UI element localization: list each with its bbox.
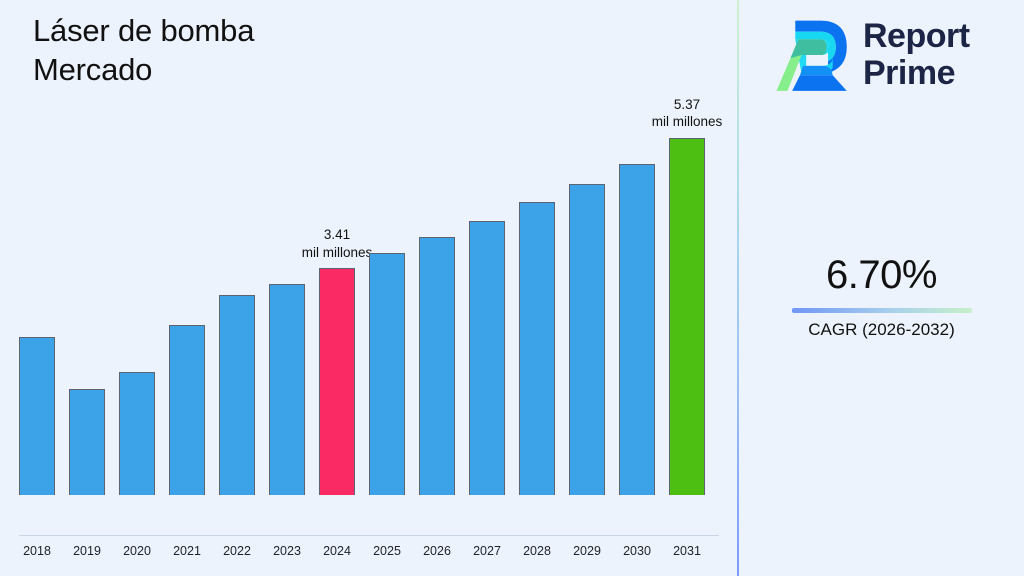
bar-2029[interactable]	[569, 184, 605, 495]
chart-panel: Láser de bomba Mercado 20182019202020212…	[0, 0, 737, 576]
x-axis-tick-2024: 2024	[323, 544, 351, 558]
bar-2022[interactable]	[219, 295, 255, 495]
bar-group-2029[interactable]	[569, 184, 605, 495]
brand-name: Report Prime	[863, 18, 970, 91]
bar-group-2026[interactable]	[419, 237, 455, 495]
bar-group-2020[interactable]	[119, 372, 155, 495]
bar-group-2023[interactable]	[269, 284, 305, 495]
cagr-value: 6.70%	[739, 252, 1024, 298]
bar-2019[interactable]	[69, 389, 105, 495]
x-axis-tick-2027: 2027	[473, 544, 501, 558]
bar-group-2018[interactable]	[19, 337, 55, 495]
bar-2030[interactable]	[619, 164, 655, 495]
x-axis-tick-2029: 2029	[573, 544, 601, 558]
x-axis-tick-2028: 2028	[523, 544, 551, 558]
bar-2023[interactable]	[269, 284, 305, 495]
bar-group-2019[interactable]	[69, 389, 105, 495]
x-axis-tick-2021: 2021	[173, 544, 201, 558]
bar-value-label-2031: 5.37 mil millones	[627, 96, 747, 131]
x-axis-line	[19, 535, 719, 536]
bar-group-2028[interactable]	[519, 202, 555, 495]
bar-group-2027[interactable]	[469, 221, 505, 495]
cagr-divider-rule	[792, 308, 972, 313]
bar-2020[interactable]	[119, 372, 155, 495]
bar-chart-plot: 2018201920202021202220233.41 mil millone…	[0, 0, 737, 536]
report-prime-r-monogram-icon	[775, 16, 853, 94]
bar-2018[interactable]	[19, 337, 55, 495]
bar-group-2021[interactable]	[169, 325, 205, 495]
infographic-page: Láser de bomba Mercado 20182019202020212…	[0, 0, 1024, 576]
x-axis-tick-2018: 2018	[23, 544, 51, 558]
x-axis-tick-2019: 2019	[73, 544, 101, 558]
bar-2021[interactable]	[169, 325, 205, 495]
bar-2031[interactable]	[669, 138, 705, 495]
bar-group-2024[interactable]: 3.41 mil millones	[319, 268, 355, 495]
x-axis-tick-2020: 2020	[123, 544, 151, 558]
cagr-caption: CAGR (2026-2032)	[739, 320, 1024, 340]
bar-2025[interactable]	[369, 253, 405, 495]
x-axis-tick-2026: 2026	[423, 544, 451, 558]
x-axis-tick-2023: 2023	[273, 544, 301, 558]
report-prime-logo: Report Prime	[775, 10, 1015, 100]
bar-2027[interactable]	[469, 221, 505, 495]
bar-2028[interactable]	[519, 202, 555, 495]
x-axis-tick-2022: 2022	[223, 544, 251, 558]
x-axis-tick-2025: 2025	[373, 544, 401, 558]
bar-2024[interactable]	[319, 268, 355, 495]
bar-2026[interactable]	[419, 237, 455, 495]
x-axis-tick-2031: 2031	[673, 544, 701, 558]
bar-group-2022[interactable]	[219, 295, 255, 495]
brand-panel: Report Prime 6.70% CAGR (2026-2032)	[739, 0, 1024, 576]
bar-group-2031[interactable]: 5.37 mil millones	[669, 138, 705, 495]
cagr-block: 6.70% CAGR (2026-2032)	[739, 252, 1024, 340]
bar-group-2030[interactable]	[619, 164, 655, 495]
bar-group-2025[interactable]	[369, 253, 405, 495]
x-axis-tick-2030: 2030	[623, 544, 651, 558]
